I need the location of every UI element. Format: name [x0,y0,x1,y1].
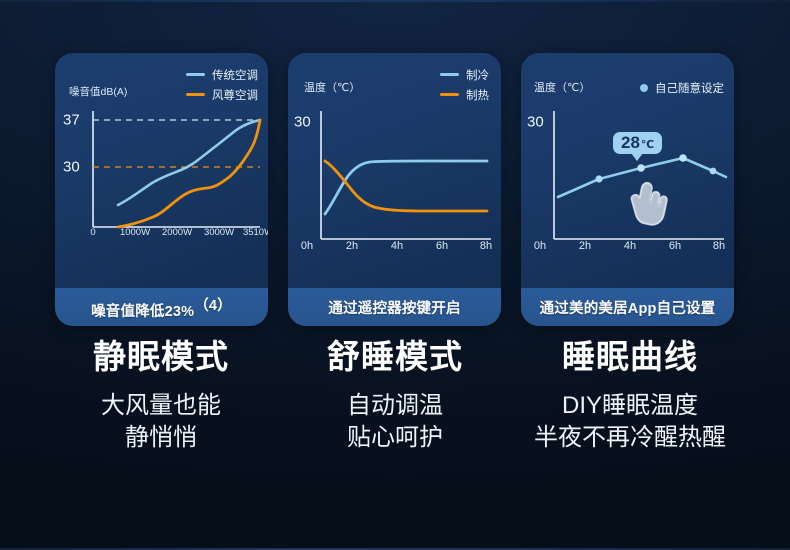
x-tick-8h: 8h [713,240,725,252]
feature-subtitle-line1: 自动调温 [270,390,520,422]
chart-cards-row: 噪音值dB(A) 传统空调 风尊空调 37 30 [0,53,790,328]
feature-title: 静眠模式 [36,338,286,376]
feature-subtitle-line2: 静悄悄 [36,422,286,454]
feature-text-row: 静眠模式 大风量也能 静悄悄 舒睡模式 自动调温 贴心呵护 睡眠曲线 DIY睡眠… [0,338,790,498]
x-tick-4h: 4h [391,240,403,252]
x-tick-3510w: 3510W [243,227,268,238]
feature-block-quiet-sleep: 静眠模式 大风量也能 静悄悄 [36,338,286,453]
x-tick-2000w: 2000W [162,227,192,238]
chart-legend: 自己随意设定 [640,79,724,99]
x-tick-4h: 4h [624,240,636,252]
x-axis-labels: 0 1000W 2000W 3000W 3510W [55,227,268,245]
feature-block-sleep-curve: 睡眠曲线 DIY睡眠温度 半夜不再冷醒热醒 [505,338,755,453]
chart-card-comfort-sleep: 温度（℃） 制冷 制热 30 [288,53,501,326]
legend-line-swatch-orange [186,93,205,96]
tooltip-unit: ℃ [641,140,654,151]
x-tick-3000w: 3000W [204,227,234,238]
y-tick-30: 30 [63,159,80,176]
x-tick-6h: 6h [436,240,448,252]
data-point-6h [679,154,687,162]
chart-header-noise: 噪音值dB(A) 传统空调 风尊空调 [55,53,268,105]
data-point-4h [637,164,645,172]
x-tick-8h: 8h [480,240,492,252]
chart-card-comfort-body: 温度（℃） 制冷 制热 30 [288,53,501,288]
x-tick-2h: 2h [346,240,358,252]
legend-label: 制冷 [466,67,489,83]
comfort-chart-svg [288,99,501,288]
x-tick-6h: 6h [669,240,681,252]
noise-chart-svg [55,99,268,288]
x-tick-0h: 0h [534,240,546,252]
y-tick-30: 30 [527,114,544,131]
feature-title: 睡眠曲线 [505,338,755,376]
card-footer-label: 通过美的美居App自己设置 [540,297,716,318]
data-point-2h [595,175,602,182]
feature-title: 舒睡模式 [270,338,520,376]
chart-card-noise-body: 噪音值dB(A) 传统空调 风尊空调 37 30 [55,53,268,288]
feature-subtitle-line1: DIY睡眠温度 [505,390,755,422]
chart-header-sleep: 温度（℃） 自己随意设定 [521,53,734,105]
chart-card-noise: 噪音值dB(A) 传统空调 风尊空调 37 30 [55,53,268,326]
sleep-plot: 30 28 ℃ [521,99,734,288]
chart-card-sleep-curve: 温度（℃） 自己随意设定 30 [521,53,734,326]
chart-card-sleep-body: 温度（℃） 自己随意设定 30 [521,53,734,288]
x-tick-0h: 0h [301,240,313,252]
x-tick-1000w: 1000W [120,227,150,238]
legend-dot-swatch [640,84,648,92]
feature-subtitle-line2: 贴心呵护 [270,422,520,454]
footer-text: 噪音值降低23% [91,303,194,319]
chart-header-comfort: 温度（℃） 制冷 制热 [288,53,501,105]
legend-line-swatch-orange [440,93,459,96]
hand-cursor-icon [625,176,669,226]
x-tick-0: 0 [90,227,95,238]
feature-subtitle-line2: 半夜不再冷醒热醒 [505,422,755,454]
card-footer-noise: 噪音值降低23%（4） [55,288,268,326]
legend-item: 自己随意设定 [640,79,724,96]
card-footer-sleep: 通过美的美居App自己设置 [521,288,734,326]
series-line-heating [325,161,487,211]
hand-cursor-svg [625,176,669,226]
x-axis-labels: 0h 2h 4h 6h 8h [288,240,501,258]
temperature-tooltip: 28 ℃ [613,132,662,154]
y-axis-title: 温度（℃） [534,79,590,95]
legend-label: 传统空调 [212,67,258,83]
x-tick-2h: 2h [579,240,591,252]
feature-block-comfort-sleep: 舒睡模式 自动调温 贴心呵护 [270,338,520,453]
comfort-plot: 30 0h 2h 4h 6h 8h [288,99,501,288]
legend-item: 传统空调 [186,66,258,83]
y-axis-title: 噪音值dB(A) [69,84,127,99]
promo-page: 噪音值dB(A) 传统空调 风尊空调 37 30 [0,0,790,550]
card-footer-label: 通过遥控器按键开启 [328,297,460,318]
card-footer-label: 噪音值降低23%（4） [91,294,232,321]
card-footer-comfort: 通过遥控器按键开启 [288,288,501,326]
legend-label: 自己随意设定 [655,80,724,96]
y-axis-title: 温度（℃） [304,79,360,95]
noise-plot: 37 30 0 [55,99,268,288]
legend-item: 制冷 [440,66,489,83]
legend-line-swatch-blue [186,73,205,76]
series-line-fengzun [118,120,260,227]
footnote-marker: （4） [194,298,232,314]
x-axis-labels: 0h 2h 4h 6h 8h [521,240,734,258]
feature-subtitle-line1: 大风量也能 [36,390,286,422]
y-tick-30: 30 [294,114,311,131]
data-point-7h [710,168,717,175]
legend-line-swatch-blue [440,73,459,76]
tooltip-value: 28 [621,134,640,151]
y-tick-37: 37 [63,112,80,129]
